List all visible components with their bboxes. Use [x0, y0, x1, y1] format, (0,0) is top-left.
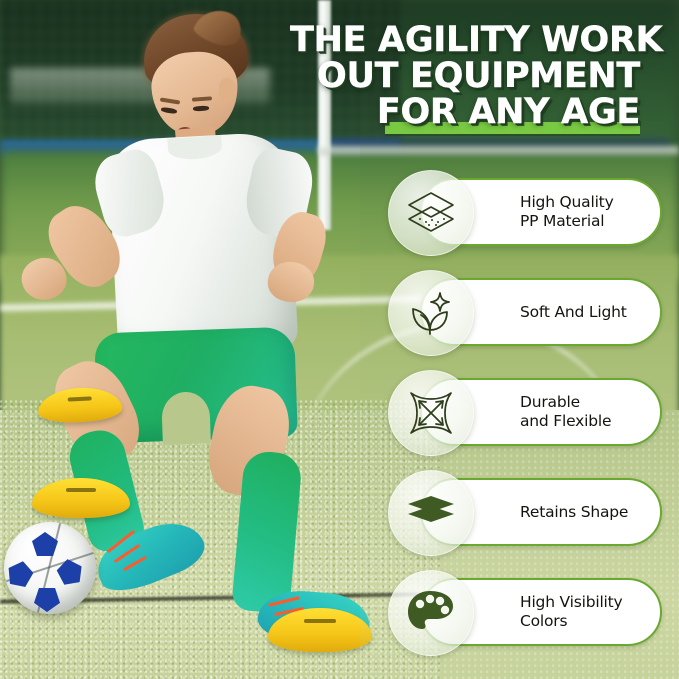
product-feature-banner: THE AGILITY WORK OUT EQUIPMENT FOR ANY A…	[0, 0, 679, 679]
flexible-stretch-icon	[406, 388, 456, 438]
shorts-notch	[161, 391, 211, 445]
feature-label-line-1: Durable	[520, 393, 611, 412]
feature-label-line-1: High Quality	[520, 193, 614, 212]
ball-pentagon	[4, 557, 36, 592]
feature-label-line-1: High Visibility	[520, 593, 623, 612]
feature-item: High Quality PP Material	[385, 170, 645, 270]
feature-label-line-2: PP Material	[520, 212, 614, 231]
feature-label-line-1: Soft And Light	[520, 303, 627, 322]
feature-item: High Visibility Colors	[385, 570, 645, 670]
feature-label: High Quality PP Material	[520, 193, 614, 231]
feature-item: Soft And Light	[385, 270, 645, 370]
feature-item: Retains Shape	[385, 470, 645, 570]
headline-line-3: FOR ANY AGE	[290, 94, 640, 130]
soccer-ball	[4, 522, 96, 614]
feature-icon-circle	[388, 170, 474, 256]
stacked-layers-filled-icon	[406, 495, 456, 531]
feature-label: High Visibility Colors	[520, 593, 623, 631]
feature-label: Durable and Flexible	[520, 393, 611, 431]
cone-slot	[66, 488, 96, 492]
cone-slot	[68, 396, 92, 401]
feature-label-line-1: Retains Shape	[520, 503, 628, 522]
feature-item: Durable and Flexible	[385, 370, 645, 470]
feature-icon-circle	[388, 270, 474, 356]
page-title: THE AGILITY WORK OUT EQUIPMENT FOR ANY A…	[290, 22, 640, 130]
feature-label-line-2: and Flexible	[520, 412, 611, 431]
feature-icon-circle	[388, 470, 474, 556]
feature-label: Retains Shape	[520, 503, 628, 522]
feature-icon-circle	[388, 370, 474, 456]
sock-right	[231, 450, 303, 614]
feature-label-line-2: Colors	[520, 612, 623, 631]
cone-slot	[304, 619, 336, 623]
headline-line-1: THE AGILITY WORK	[290, 22, 640, 58]
feature-list: High Quality PP Material	[385, 170, 645, 670]
feature-icon-circle	[388, 570, 474, 656]
headline-line-2: OUT EQUIPMENT	[290, 58, 640, 94]
leaf-sparkle-icon	[406, 288, 456, 338]
feature-label: Soft And Light	[520, 303, 627, 322]
ball-pentagon	[32, 532, 58, 556]
paint-palette-icon	[407, 590, 455, 636]
ear	[219, 78, 236, 102]
stacked-layers-outline-icon	[406, 190, 456, 236]
